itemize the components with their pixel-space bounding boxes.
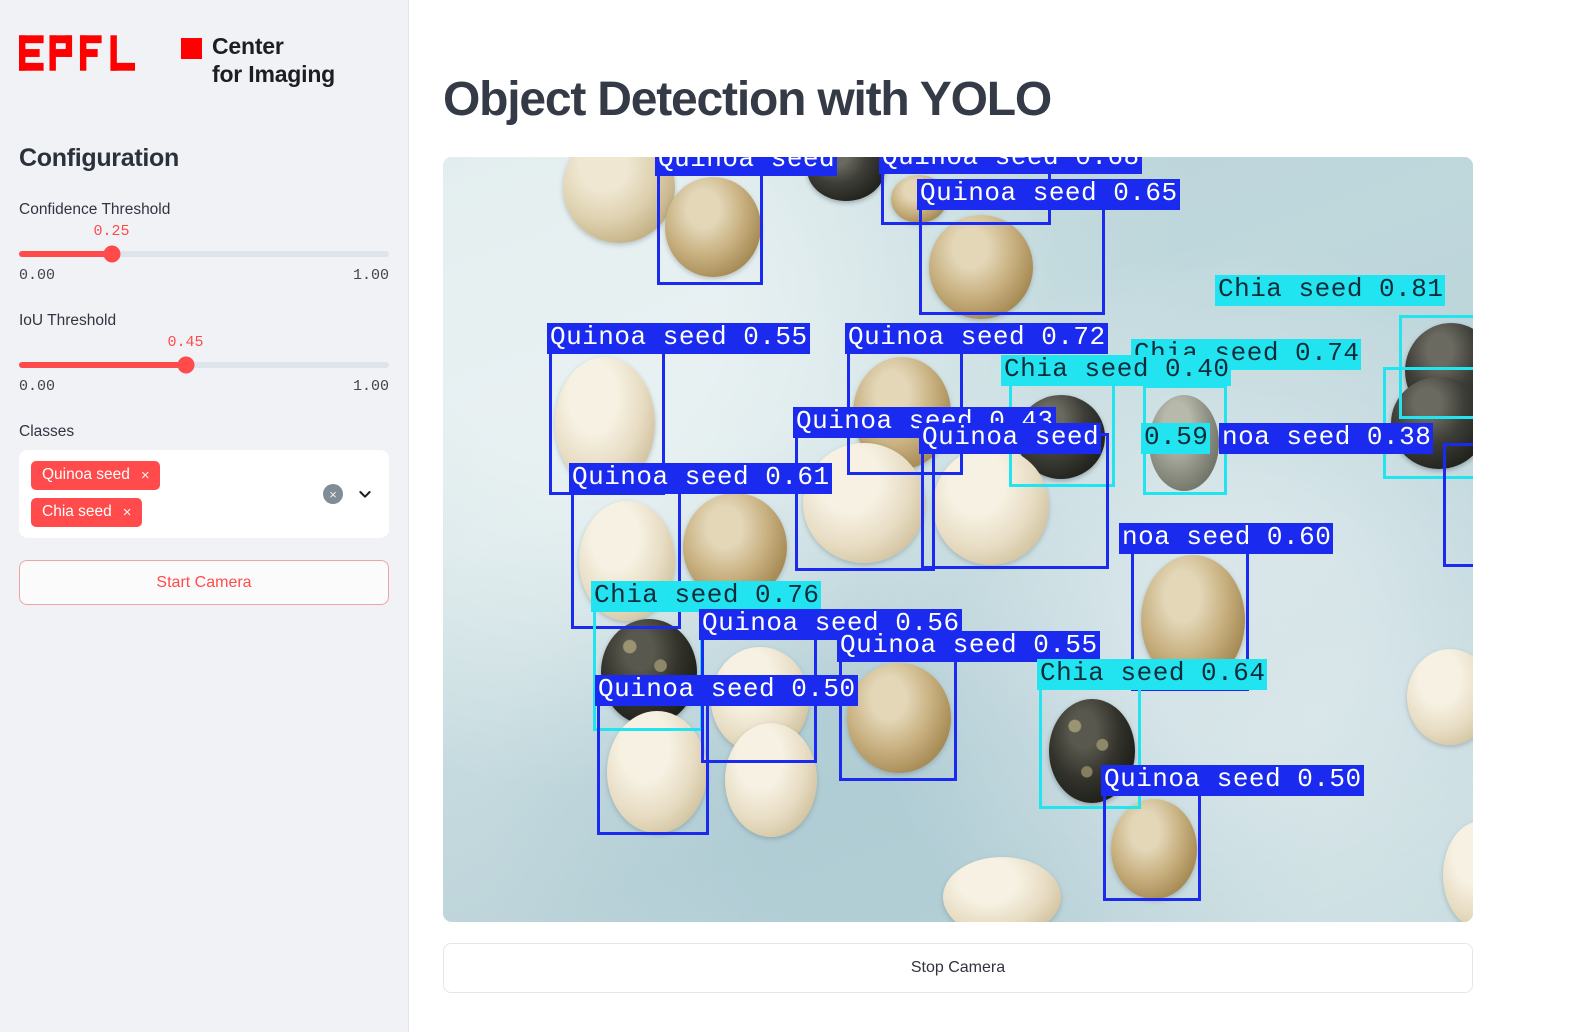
detection-bbox bbox=[839, 653, 957, 781]
confidence-threshold-track[interactable] bbox=[19, 251, 389, 257]
detection-label: Chia seed 0.76 bbox=[591, 581, 821, 612]
confidence-threshold-fill bbox=[19, 251, 112, 257]
classes-label: Classes bbox=[19, 423, 389, 441]
sidebar: Center for Imaging Configuration Confide… bbox=[0, 0, 409, 1032]
detection-label: Quinoa seed bbox=[655, 157, 837, 176]
iou-threshold-min: 0.00 bbox=[19, 378, 55, 395]
detection-label: Quinoa seed 0.65 bbox=[917, 179, 1180, 210]
class-tag[interactable]: Quinoa seed× bbox=[31, 461, 160, 490]
detection-video-frame[interactable]: Quinoa seedQuinoa seed 0.68Quinoa seed 0… bbox=[443, 157, 1473, 922]
detection-label: Quinoa seed 0.50 bbox=[1101, 765, 1364, 796]
classes-controls: × bbox=[323, 484, 373, 504]
confidence-threshold-label: Confidence Threshold bbox=[19, 201, 389, 219]
detection-label: Quinoa seed 0.55 bbox=[547, 323, 810, 354]
detection-label: Quinoa seed 0.55 bbox=[837, 631, 1100, 662]
detection-label: Quinoa seed 0.68 bbox=[879, 157, 1142, 174]
detection-label: Chia seed 0.64 bbox=[1037, 659, 1267, 690]
detection-bbox bbox=[657, 167, 763, 285]
configuration-heading: Configuration bbox=[19, 144, 389, 173]
center-for-imaging-logo: Center for Imaging bbox=[181, 32, 335, 88]
detection-label: Quinoa seed bbox=[919, 423, 1101, 454]
iou-threshold-track[interactable] bbox=[19, 362, 389, 368]
page-title: Object Detection with YOLO bbox=[443, 72, 1538, 127]
confidence-threshold-value: 0.25 bbox=[93, 223, 129, 240]
camera-scene: Quinoa seedQuinoa seed 0.68Quinoa seed 0… bbox=[443, 157, 1473, 922]
confidence-threshold-value-wrap: 0.25 bbox=[19, 223, 389, 245]
app-root: Center for Imaging Configuration Confide… bbox=[0, 0, 1572, 1032]
iou-threshold-thumb[interactable] bbox=[177, 357, 194, 374]
iou-threshold-slider[interactable]: 0.45 0.00 1.00 bbox=[19, 334, 389, 395]
detection-label: Quinoa seed 0.61 bbox=[569, 463, 832, 494]
detection-label: Quinoa seed 0.72 bbox=[845, 323, 1108, 354]
chevron-down-icon[interactable] bbox=[357, 486, 373, 502]
start-camera-button[interactable]: Start Camera bbox=[19, 560, 389, 605]
iou-threshold-range: 0.00 1.00 bbox=[19, 378, 389, 395]
center-for-imaging-text: Center for Imaging bbox=[212, 33, 335, 88]
center-line-2: for Imaging bbox=[212, 61, 335, 89]
detection-label: Chia seed 0.40 bbox=[1001, 355, 1231, 386]
class-tag-label: Quinoa seed bbox=[42, 466, 130, 484]
detection-label: noa seed 0.38 bbox=[1219, 423, 1433, 454]
class-tag-remove-icon[interactable]: × bbox=[141, 468, 150, 483]
confidence-threshold-max: 1.00 bbox=[353, 267, 389, 284]
classes-tag-list: Quinoa seed×Chia seed× bbox=[31, 461, 160, 527]
detection-label: Quinoa seed 0.50 bbox=[595, 675, 858, 706]
detection-bbox bbox=[597, 699, 709, 835]
main-content: Object Detection with YOLO Quinoa seedQu… bbox=[409, 0, 1572, 1032]
confidence-threshold-min: 0.00 bbox=[19, 267, 55, 284]
detection-label: noa seed 0.60 bbox=[1119, 523, 1333, 554]
stop-camera-button[interactable]: Stop Camera bbox=[443, 943, 1473, 993]
class-tag[interactable]: Chia seed× bbox=[31, 498, 142, 527]
red-square-icon bbox=[181, 38, 202, 59]
clear-all-icon[interactable]: × bbox=[323, 484, 343, 504]
confidence-threshold-thumb[interactable] bbox=[103, 246, 120, 263]
confidence-threshold-slider[interactable]: 0.25 0.00 1.00 bbox=[19, 223, 389, 284]
epfl-logo bbox=[19, 32, 137, 76]
detection-label: Chia seed 0.81 bbox=[1215, 275, 1445, 306]
center-line-1: Center bbox=[212, 33, 335, 61]
iou-threshold-max: 1.00 bbox=[353, 378, 389, 395]
iou-threshold-fill bbox=[19, 362, 186, 368]
confidence-threshold-range: 0.00 1.00 bbox=[19, 267, 389, 284]
detection-bbox bbox=[795, 431, 935, 571]
detection-bbox bbox=[1103, 789, 1201, 901]
classes-multiselect[interactable]: Quinoa seed×Chia seed× × bbox=[19, 450, 389, 538]
detection-bbox bbox=[919, 193, 1105, 315]
brand-header: Center for Imaging bbox=[19, 26, 389, 88]
iou-threshold-value-wrap: 0.45 bbox=[19, 334, 389, 356]
detection-label: 0.59 bbox=[1141, 423, 1210, 454]
iou-threshold-label: IoU Threshold bbox=[19, 312, 389, 330]
class-tag-label: Chia seed bbox=[42, 503, 112, 521]
iou-threshold-value: 0.45 bbox=[167, 334, 203, 351]
class-tag-remove-icon[interactable]: × bbox=[123, 505, 132, 520]
detection-bbox bbox=[1443, 443, 1473, 567]
